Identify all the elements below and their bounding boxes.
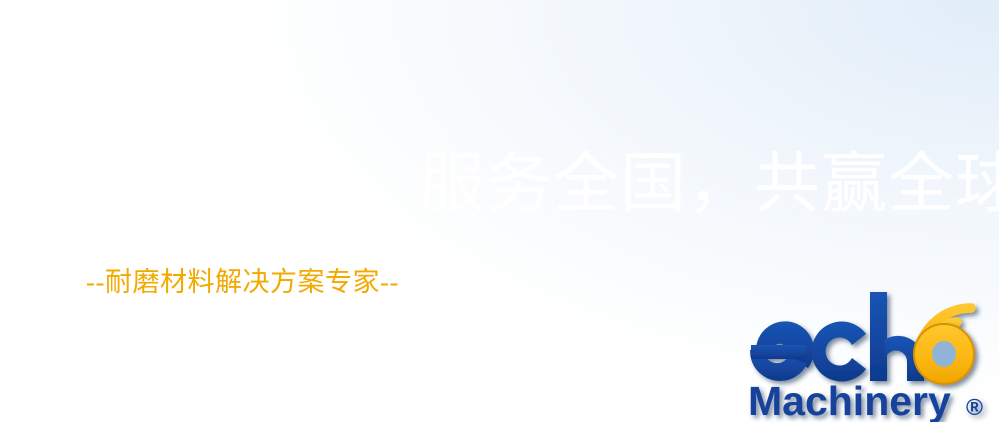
echo-machinery-logo[interactable]: Machinery ® bbox=[748, 288, 999, 422]
logo-letter-e bbox=[748, 321, 814, 381]
logo-letter-c bbox=[812, 322, 866, 382]
logo-wordmark: Machinery bbox=[748, 378, 951, 422]
logo-letter-o bbox=[914, 324, 974, 384]
logo-letter-h bbox=[870, 292, 924, 381]
hero-banner: 深耕华东，服务全国，共赢全球 --耐磨材料解决方案专家-- bbox=[0, 0, 999, 422]
banner-headline: 深耕华东，服务全国，共赢全球 bbox=[84, 148, 999, 222]
registered-trademark-icon: ® bbox=[966, 394, 983, 420]
banner-subtitle: --耐磨材料解决方案专家-- bbox=[86, 266, 399, 298]
